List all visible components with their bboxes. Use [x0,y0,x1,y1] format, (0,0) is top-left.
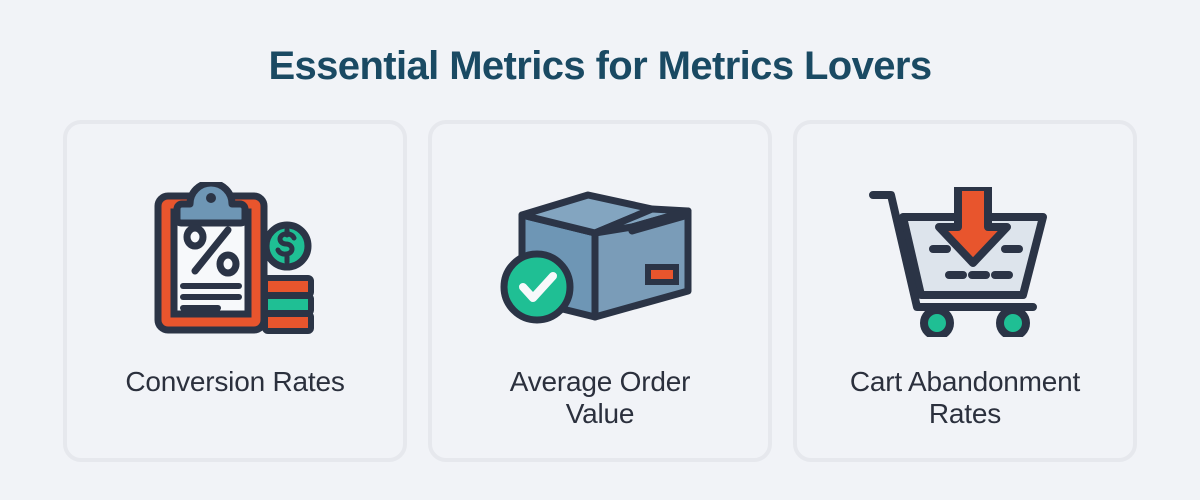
metric-card-list: Conversion Rates [63,120,1137,462]
metric-card-conversion-rates[interactable]: Conversion Rates [63,120,407,462]
metric-card-cart-abandonment-rates[interactable]: Cart Abandonment Rates [793,120,1137,462]
infographic-page: Essential Metrics for Metrics Lovers [0,0,1200,500]
package-box-check-icon [500,187,700,337]
page-title: Essential Metrics for Metrics Lovers [0,44,1200,88]
icon-container [432,162,768,362]
shopping-cart-down-arrow-icon [865,187,1065,337]
metric-card-label: Average Order Value [445,366,754,430]
icon-container [67,162,403,362]
metric-card-label: Conversion Rates [80,366,389,398]
metric-card-average-order-value[interactable]: Average Order Value [428,120,772,462]
icon-container [797,162,1133,362]
clipboard-percent-coins-icon [150,182,320,342]
metric-card-label: Cart Abandonment Rates [810,366,1119,430]
